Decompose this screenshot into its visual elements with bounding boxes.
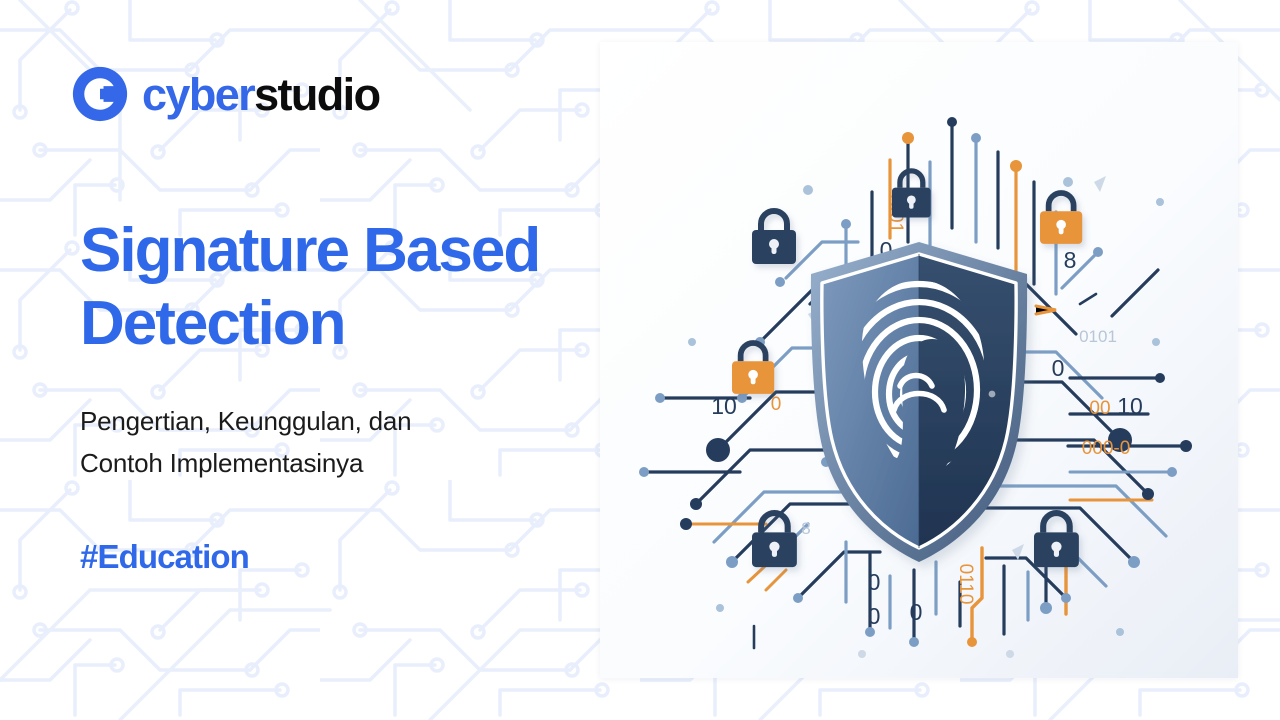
binary-mark: 0 bbox=[868, 569, 881, 595]
binary-mark: 0101 bbox=[1079, 327, 1117, 346]
binary-mark: 0 bbox=[868, 603, 881, 629]
binary-mark: 0110 bbox=[955, 564, 976, 605]
headline-line-1: Signature Based bbox=[80, 216, 539, 285]
cyber-security-shield-illustration: 0 8 10 10 0 0 0 0 00 000-0 0 1001 0110 0… bbox=[600, 42, 1238, 678]
page-title: Signature Based Detection bbox=[80, 214, 620, 360]
binary-mark: 0 bbox=[771, 394, 782, 415]
brand-word-studio: studio bbox=[254, 69, 379, 120]
headline-line-2: Detection bbox=[80, 289, 344, 358]
brand-logo[interactable]: cyberstudio bbox=[72, 66, 379, 122]
binary-mark: 10 bbox=[711, 393, 737, 419]
subtitle-line-2: Contoh Implementasinya bbox=[80, 448, 363, 478]
left-content-column: cyberstudio Signature Based Detection Pe… bbox=[0, 0, 600, 720]
slide-canvas: cyberstudio Signature Based Detection Pe… bbox=[0, 0, 1280, 720]
brand-wordmark: cyberstudio bbox=[142, 72, 379, 117]
binary-mark: 8 bbox=[801, 519, 810, 538]
binary-mark: 000-0 bbox=[1082, 438, 1131, 459]
binary-mark: 0 bbox=[1052, 355, 1065, 381]
brand-word-cyber: cyber bbox=[142, 69, 254, 120]
binary-mark: 0 bbox=[910, 599, 923, 625]
binary-mark: 10 bbox=[1117, 393, 1143, 419]
binary-mark: 00 bbox=[1089, 398, 1110, 419]
hashtag-badge: #Education bbox=[80, 540, 249, 573]
page-subtitle: Pengertian, Keunggulan, dan Contoh Imple… bbox=[80, 400, 580, 484]
illustration-panel: 0 8 10 10 0 0 0 0 00 000-0 0 1001 0110 0… bbox=[600, 42, 1238, 678]
binary-mark: 8 bbox=[1064, 247, 1077, 273]
subtitle-line-1: Pengertian, Keunggulan, dan bbox=[80, 406, 411, 436]
cyberstudio-c-mark-icon bbox=[72, 66, 128, 122]
